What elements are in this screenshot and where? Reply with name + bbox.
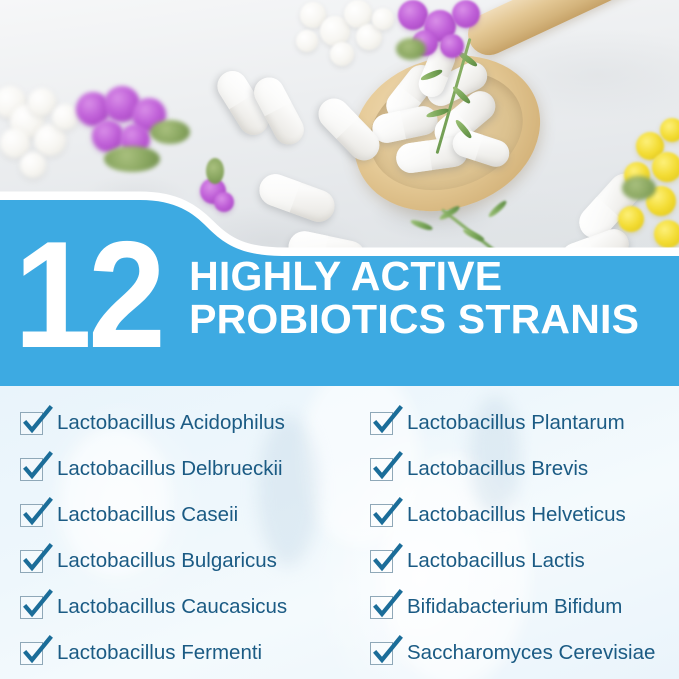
list-item[interactable]: Bifidabacterium Bifidum bbox=[370, 584, 679, 630]
list-item-label: Lactobacillus Helveticus bbox=[407, 505, 626, 526]
list-item[interactable]: Lactobacillus Plantarum bbox=[370, 400, 679, 446]
probiotic-strains-poster: 12 HIGHLY ACTIVE PROBIOTICS STRANIS Lact… bbox=[0, 0, 679, 679]
checkmark-icon[interactable] bbox=[20, 410, 46, 436]
strain-list-region: Lactobacillus Acidophilus Lactobacillus … bbox=[0, 386, 679, 679]
white-flower bbox=[372, 8, 394, 30]
strain-columns: Lactobacillus Acidophilus Lactobacillus … bbox=[0, 386, 679, 679]
list-item-label: Lactobacillus Fermenti bbox=[57, 643, 262, 664]
list-item[interactable]: Lactobacillus Acidophilus bbox=[20, 400, 350, 446]
headline-line-2: PROBIOTICS STRANIS bbox=[189, 298, 639, 341]
banner-headline: HIGHLY ACTIVE PROBIOTICS STRANIS bbox=[189, 255, 639, 342]
list-item[interactable]: Lactobacillus Caseii bbox=[20, 492, 350, 538]
list-item[interactable]: Lactobacillus Brevis bbox=[370, 446, 679, 492]
white-flower bbox=[52, 104, 78, 130]
list-item[interactable]: Lactobacillus Helveticus bbox=[370, 492, 679, 538]
white-flower bbox=[296, 30, 318, 52]
list-item-label: Lactobacillus Lactis bbox=[407, 551, 585, 572]
checkmark-icon[interactable] bbox=[370, 502, 396, 528]
checkmark-icon[interactable] bbox=[20, 456, 46, 482]
headline-line-1: HIGHLY ACTIVE bbox=[189, 253, 502, 299]
checkmark-icon[interactable] bbox=[370, 640, 396, 666]
checkmark-icon[interactable] bbox=[20, 640, 46, 666]
checkmark-icon[interactable] bbox=[20, 502, 46, 528]
purple-flower bbox=[452, 0, 480, 28]
list-item-label: Lactobacillus Acidophilus bbox=[57, 413, 285, 434]
list-item[interactable]: Lactobacillus Lactis bbox=[370, 538, 679, 584]
yellow-flower bbox=[660, 118, 679, 142]
list-item[interactable]: Lactobacillus Bulgaricus bbox=[20, 538, 350, 584]
banner-content: 12 HIGHLY ACTIVE PROBIOTICS STRANIS bbox=[0, 176, 679, 388]
strain-column-right: Lactobacillus Plantarum Lactobacillus Br… bbox=[350, 400, 679, 679]
white-flower bbox=[330, 42, 354, 66]
flower-foliage bbox=[396, 38, 426, 60]
strain-column-left: Lactobacillus Acidophilus Lactobacillus … bbox=[0, 400, 350, 679]
list-item-label: Lactobacillus Brevis bbox=[407, 459, 588, 480]
strain-count: 12 bbox=[14, 233, 162, 358]
list-item[interactable]: Lactobacillus Delbrueckii bbox=[20, 446, 350, 492]
list-item[interactable]: Saccharomyces Cerevisiae bbox=[370, 630, 679, 676]
list-item[interactable]: Lactobacillus Fermenti bbox=[20, 630, 350, 676]
list-item[interactable]: Lactobacillus Caucasicus bbox=[20, 584, 350, 630]
headline-banner: 12 HIGHLY ACTIVE PROBIOTICS STRANIS bbox=[0, 176, 679, 388]
checkmark-icon[interactable] bbox=[370, 456, 396, 482]
flower-foliage bbox=[150, 120, 190, 144]
checkmark-icon[interactable] bbox=[370, 548, 396, 574]
checkmark-icon[interactable] bbox=[370, 410, 396, 436]
purple-flower bbox=[440, 34, 464, 58]
checkmark-icon[interactable] bbox=[20, 548, 46, 574]
list-item-label: Lactobacillus Delbrueckii bbox=[57, 459, 283, 480]
checkmark-icon[interactable] bbox=[20, 594, 46, 620]
flower-foliage bbox=[104, 146, 160, 172]
list-item-label: Lactobacillus Plantarum bbox=[407, 413, 625, 434]
list-item-label: Saccharomyces Cerevisiae bbox=[407, 643, 655, 664]
list-item-label: Lactobacillus Caseii bbox=[57, 505, 238, 526]
checkmark-icon[interactable] bbox=[370, 594, 396, 620]
list-item-label: Bifidabacterium Bifidum bbox=[407, 597, 622, 618]
list-item-label: Lactobacillus Bulgaricus bbox=[57, 551, 277, 572]
white-flower bbox=[20, 152, 46, 178]
list-item-label: Lactobacillus Caucasicus bbox=[57, 597, 287, 618]
